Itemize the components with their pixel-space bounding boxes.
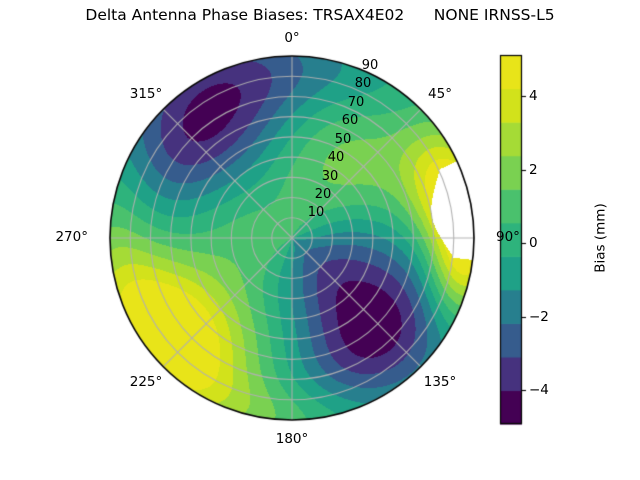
colorbar-axis-label: Bias (mm) [593,203,609,272]
colorbar-tick--4: 4 [529,88,538,104]
colorbar-tick-0: 0 [529,235,538,251]
figure-root: Delta Antenna Phase Biases: TRSAX4E02 NO… [0,0,640,480]
colorbar-tick-4: −4 [529,382,549,398]
polar-contour-plot [0,0,640,480]
colorbar-tick-2: −2 [529,309,549,325]
colorbar-tick--2: 2 [529,162,538,178]
